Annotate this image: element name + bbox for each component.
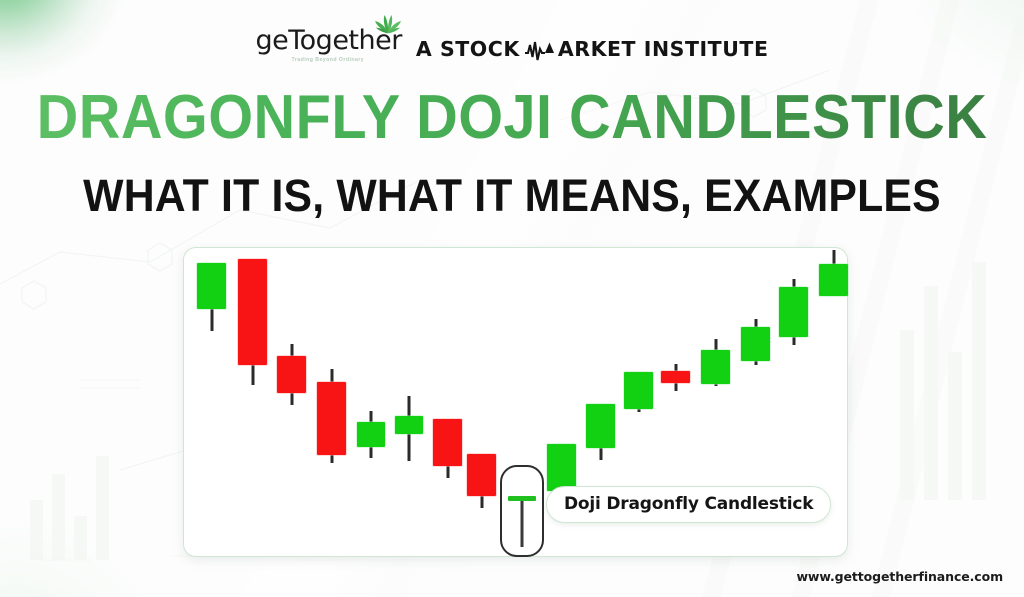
candle-4-up <box>357 411 385 458</box>
brand-bar: geTogether Trading Beyond Ordinary A STO… <box>0 27 1024 63</box>
candle-body <box>547 444 576 491</box>
candle-body <box>586 404 615 448</box>
candle-body <box>741 327 770 361</box>
leaf-icon <box>370 14 406 34</box>
doji-lower-wick <box>521 496 524 547</box>
candle-body <box>357 422 385 447</box>
candle-body <box>701 350 730 384</box>
page-subtitle: WHAT IT IS, WHAT IT MEANS, EXAMPLES <box>26 173 999 218</box>
candle-body <box>624 372 653 409</box>
candle-0-up <box>197 263 226 331</box>
candle-body <box>779 287 808 337</box>
candle-5-up <box>395 396 423 461</box>
candlestick-chart-card: Doji Dragonfly Candlestick <box>183 247 848 557</box>
candle-body <box>661 371 690 383</box>
candle-body <box>819 264 848 296</box>
doji-annotation-label[interactable]: Doji Dragonfly Candlestick <box>546 486 831 523</box>
candle-6-down <box>433 419 462 478</box>
logo[interactable]: geTogether Trading Beyond Ordinary <box>256 27 402 63</box>
candle-1-down <box>238 259 267 385</box>
candle-15-up <box>779 279 808 345</box>
candle-doji-dragonfly <box>508 496 536 547</box>
brand-tagline: A STOCK ARKET INSTITUTE <box>416 38 769 60</box>
candle-body <box>238 259 267 365</box>
pulse-wave-icon <box>524 40 554 62</box>
candle-12-down <box>661 364 690 391</box>
candle-body <box>277 356 306 393</box>
candle-14-up <box>741 319 770 365</box>
candle-11-up <box>624 372 653 412</box>
logo-tagline: Trading Beyond Ordinary <box>292 57 365 63</box>
candle-3-down <box>317 369 346 463</box>
candle-body <box>317 382 346 455</box>
footer-website-url[interactable]: www.gettogetherfinance.com <box>796 569 1003 584</box>
brand-tagline-prefix: A STOCK <box>416 39 520 60</box>
candle-body <box>197 263 226 309</box>
brand-tagline-suffix: ARKET INSTITUTE <box>558 39 769 60</box>
candle-13-up <box>701 339 730 386</box>
page-title: DRAGONFLY DOJI CANDLESTICK <box>36 88 988 149</box>
candle-body <box>395 416 423 434</box>
logo-row: geTogether <box>256 27 402 54</box>
doji-open-close-bar <box>508 496 536 501</box>
candle-7-down <box>467 454 496 508</box>
candle-16-up <box>819 250 848 296</box>
candle-body <box>433 419 462 466</box>
candle-body <box>467 454 496 496</box>
candle-2-down <box>277 344 306 405</box>
candle-10-up <box>586 404 615 460</box>
